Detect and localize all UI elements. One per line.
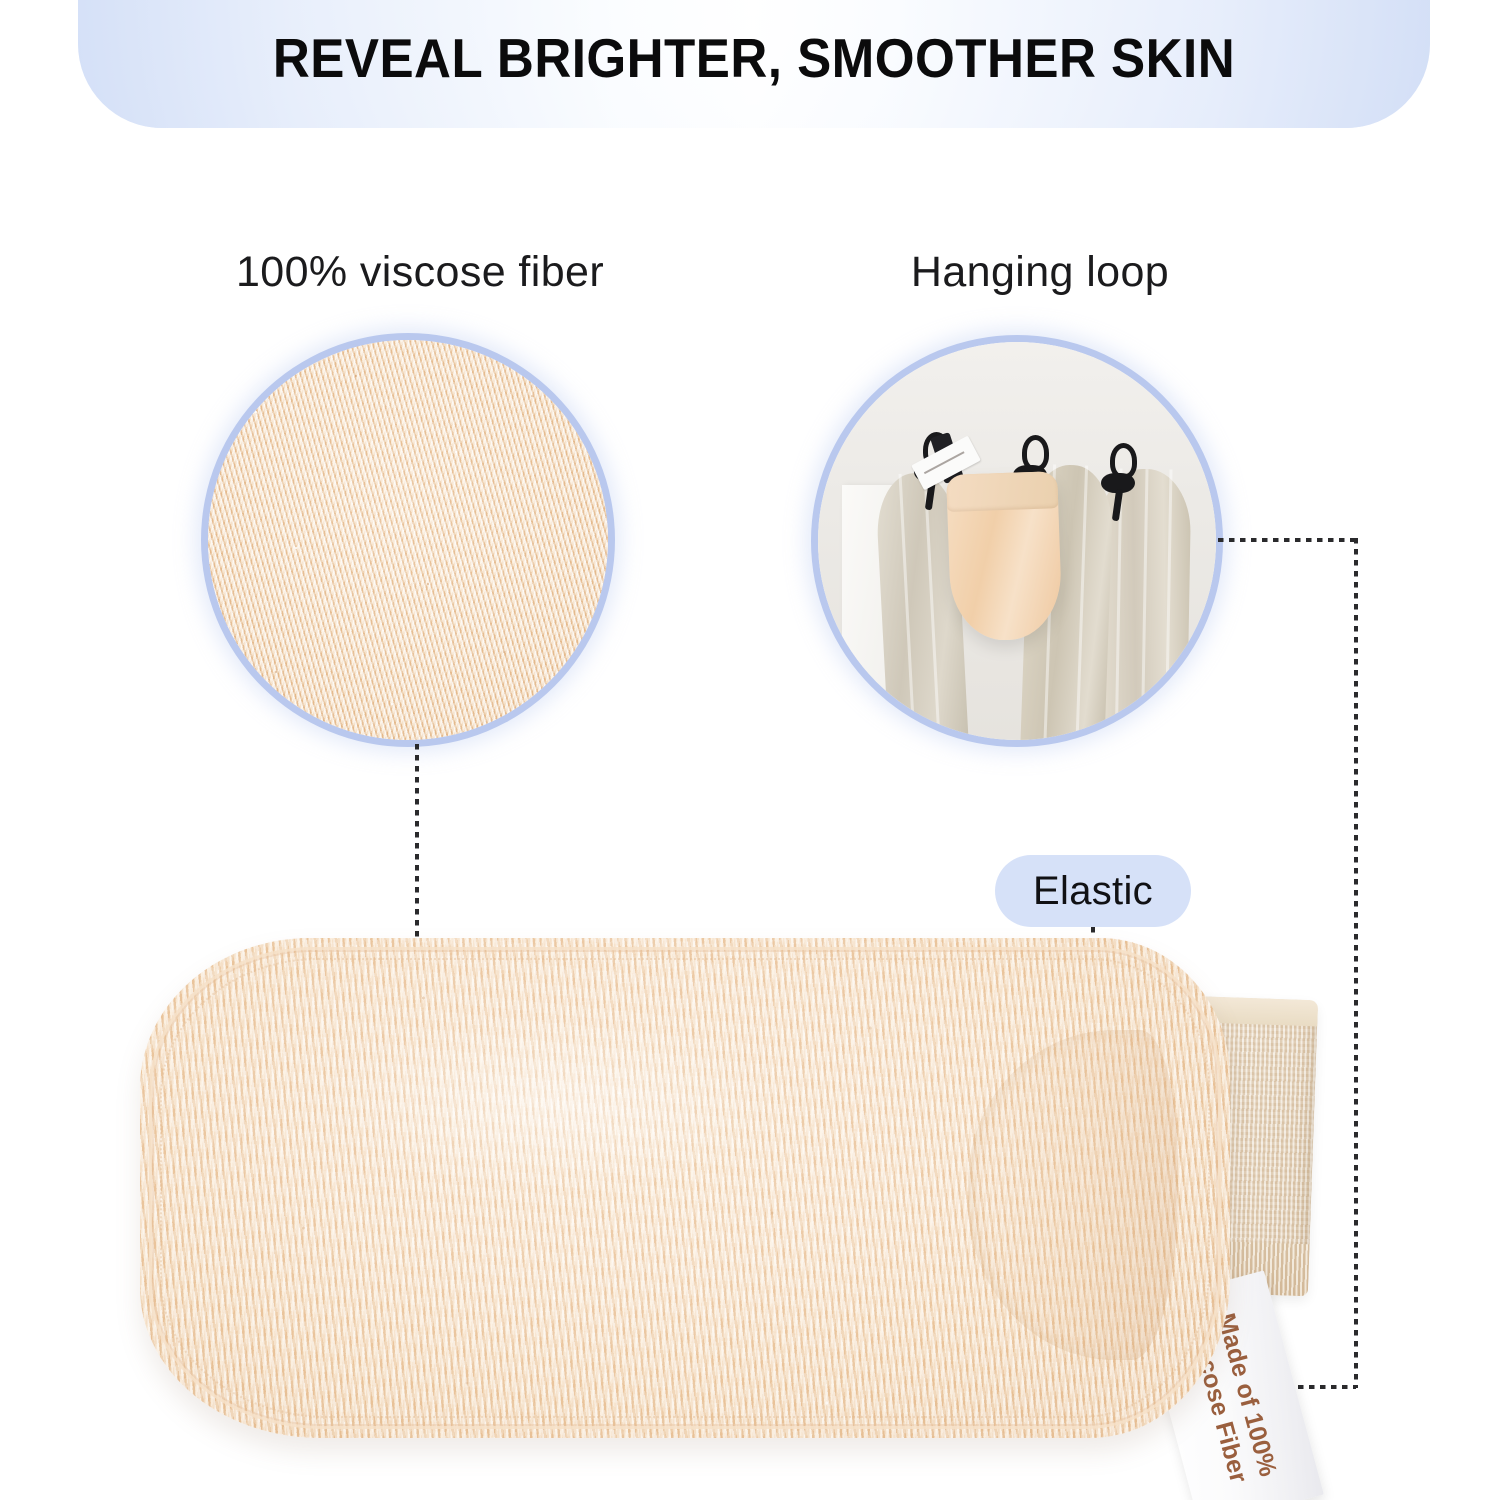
infographic-canvas: REVEAL BRIGHTER, SMOOTHER SKIN 100% visc… — [0, 0, 1500, 1500]
product-photo-mitt: Made of 100% Viscose Fiber — [0, 0, 1500, 1500]
mitt-body — [140, 938, 1230, 1438]
mitt-highlight — [230, 978, 870, 1228]
